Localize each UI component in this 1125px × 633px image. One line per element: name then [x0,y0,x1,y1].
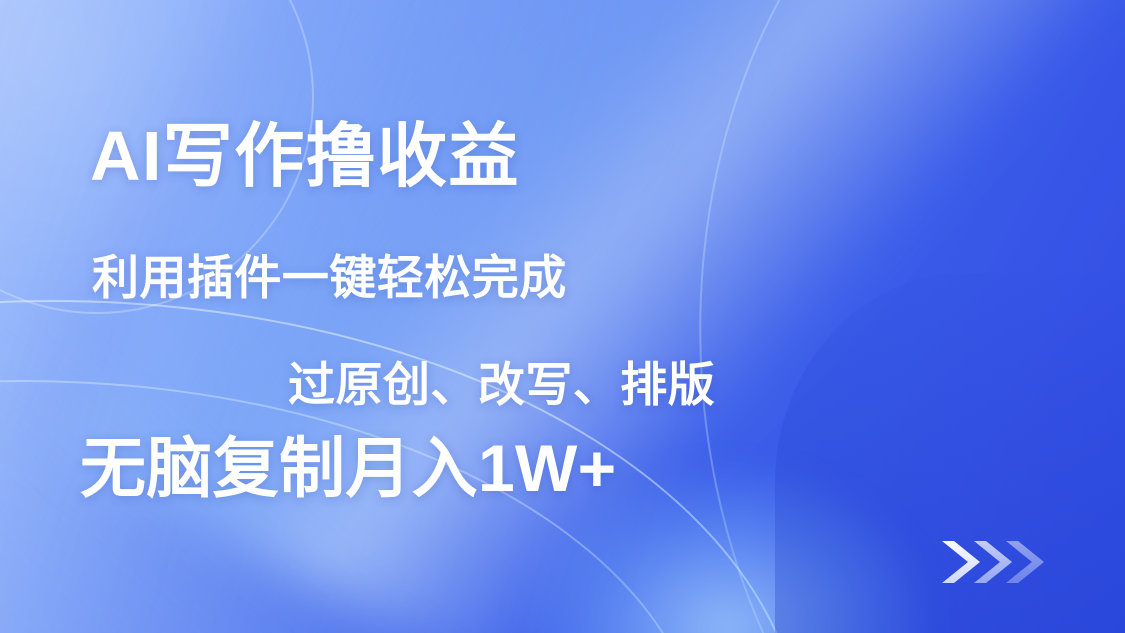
feature-line: 过原创、改写、排版 [288,360,715,409]
headline: AI写作撸收益 [90,120,520,194]
subheadline: 利用插件一键轻松完成 [92,253,567,302]
payoff-line: 无脑复制月入1W+ [80,434,617,503]
triple-chevron-right-icon [938,535,1058,589]
promo-banner: AI写作撸收益 利用插件一键轻松完成 过原创、改写、排版 无脑复制月入1W+ [0,0,1125,633]
